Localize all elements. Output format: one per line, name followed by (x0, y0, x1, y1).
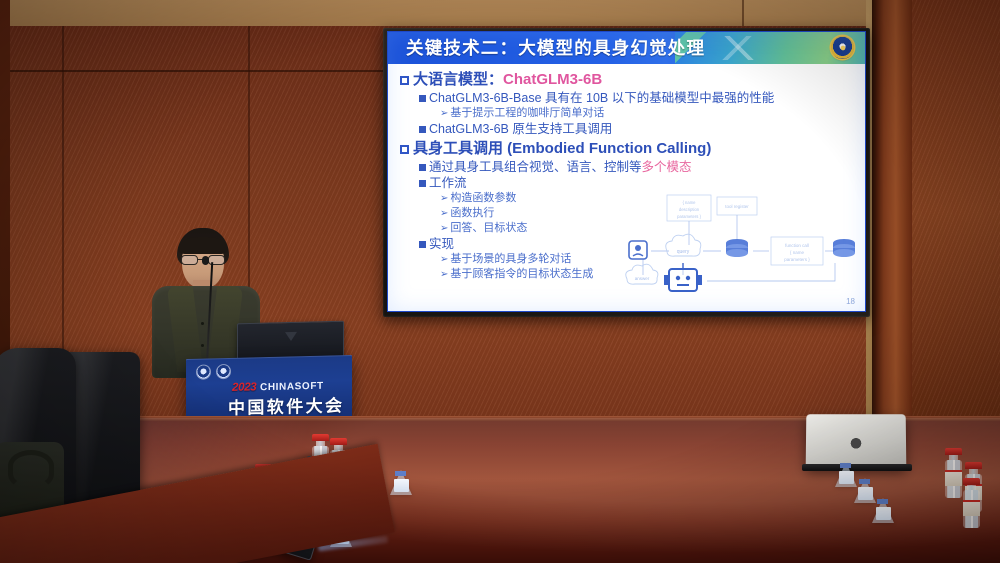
arrow-bullet-icon: ➢ (440, 268, 448, 281)
jacket-button (201, 344, 204, 347)
slide-title-bar: 关键技术二：大模型的具身幻觉处理 (388, 32, 865, 64)
svg-text:function call: function call (785, 243, 809, 248)
bullet-level2: 通过具身工具组合视觉、语言、控制等 多个模态 (419, 160, 855, 174)
bullet-level2: ChatGLM3-6B 原生支持工具调用 (419, 122, 855, 136)
filled-square-bullet-icon (419, 126, 426, 133)
bullet-level3: ➢ 基于提示工程的咖啡厅简单对话 (440, 107, 855, 120)
svg-text:answer: answer (635, 276, 650, 281)
slide-screen: 关键技术二：大模型的具身幻觉处理 大语言模型： ChatGLM3-6B Chat… (388, 32, 865, 311)
jacket-button (201, 322, 204, 325)
arrow-bullet-icon: ➢ (440, 207, 448, 220)
bullet-text: ChatGLM3-6B 原生支持工具调用 (429, 122, 612, 136)
bullet-text: 构造函数参数 (450, 192, 516, 204)
filled-square-bullet-icon (419, 241, 426, 248)
water-bottle (945, 448, 962, 498)
svg-text:{ name: { name (790, 250, 805, 255)
wall-right-bay (912, 0, 1000, 470)
presentation-display[interactable]: 关键技术二：大模型的具身幻觉处理 大语言模型： ChatGLM3-6B Chat… (383, 28, 870, 317)
bullet-level1: 具身工具调用 (Embodied Function Calling) (400, 141, 855, 158)
lectern-logos (197, 365, 230, 379)
svg-text:tool register: tool register (725, 204, 749, 209)
bullet-level2: 工作流 (419, 176, 855, 190)
macbook-laptop[interactable] (806, 414, 907, 468)
bullet-text: ChatGLM3-6B-Base 具有在 10B 以下的基础模型中最强的性能 (429, 91, 774, 105)
svg-text:{ name: { name (682, 200, 696, 205)
user-icon (629, 241, 647, 259)
lectern-sign: 2023 CHINASOFT 中国软件大会 (186, 355, 352, 423)
svg-text:parameters }: parameters } (677, 214, 701, 219)
svg-text:parameters }: parameters } (784, 257, 810, 262)
function-calling-diagram: query answer (621, 193, 857, 297)
bullet-text: 通过具身工具组合视觉、语言、控制等 (429, 160, 642, 174)
conference-room-scene: 关键技术二：大模型的具身幻觉处理 大语言模型： ChatGLM3-6B Chat… (0, 0, 1000, 563)
water-bottle (963, 478, 980, 528)
microphone-head (202, 256, 209, 265)
macbook-base (802, 464, 912, 471)
bullet-text: 具身工具调用 (Embodied Function Calling) (413, 141, 711, 158)
bullet-text: 基于场景的具身多轮对话 (450, 253, 571, 265)
backpack-strap (8, 450, 54, 490)
bullet-text: 基于提示工程的咖啡厅简单对话 (450, 107, 604, 119)
bullet-text: 基于顾客指令的目标状态生成 (450, 268, 593, 280)
arrow-bullet-icon: ➢ (440, 222, 448, 235)
bullet-text: 回答、目标状态 (450, 222, 527, 234)
slide-page-number: 18 (846, 297, 855, 306)
filled-square-bullet-icon (419, 95, 426, 102)
bullet-highlight: ChatGLM3-6B (503, 72, 602, 89)
arrow-bullet-icon: ➢ (440, 192, 448, 205)
bullet-text: 大语言模型： (413, 72, 503, 89)
filled-square-bullet-icon (419, 180, 426, 187)
cloud-query-icon: query (666, 234, 701, 256)
lectern-chinese-title: 中国软件大会 (228, 391, 344, 419)
hollow-square-bullet-icon (400, 76, 409, 85)
arrow-bullet-icon: ➢ (440, 253, 448, 266)
presenter-fringe (178, 237, 228, 254)
svg-text:description: description (679, 207, 700, 212)
apple-icon (849, 434, 862, 449)
name-card-holder (872, 498, 894, 523)
slide-title: 关键技术二：大模型的具身幻觉处理 (388, 32, 865, 64)
bullet-text: 实现 (429, 237, 454, 251)
arrow-bullet-icon: ➢ (440, 107, 448, 120)
database-icon (726, 239, 748, 257)
cloud-answer-icon: answer (626, 264, 658, 284)
bullet-highlight: 多个模态 (642, 160, 692, 174)
filled-square-bullet-icon (419, 164, 426, 171)
bullet-text: 工作流 (429, 176, 467, 190)
bullet-level1: 大语言模型： ChatGLM3-6B (400, 72, 855, 89)
database-icon (833, 239, 855, 257)
alienware-icon (285, 332, 297, 341)
hollow-square-bullet-icon (400, 145, 409, 154)
wall-pillar (876, 0, 912, 470)
organization-logo-icon (197, 365, 210, 378)
name-card-holder (390, 470, 412, 495)
svg-text:query: query (677, 249, 690, 255)
slide-body: 大语言模型： ChatGLM3-6B ChatGLM3-6B-Base 具有在 … (388, 64, 865, 311)
robot-icon (664, 263, 702, 291)
bullet-text: 函数执行 (450, 207, 494, 219)
lectern-year: 2023 (232, 381, 256, 394)
bullet-level2: ChatGLM3-6B-Base 具有在 10B 以下的基础模型中最强的性能 (419, 91, 855, 105)
organization-logo-icon (217, 365, 230, 378)
